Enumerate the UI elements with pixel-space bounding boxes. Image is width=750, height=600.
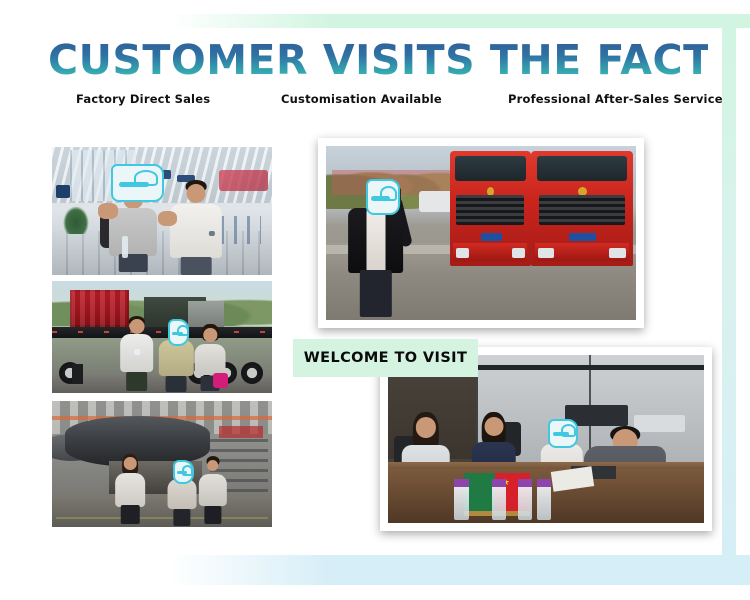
legs (126, 372, 148, 391)
airport-arrival-image (52, 147, 272, 275)
water-bottle (454, 486, 468, 520)
head (207, 460, 219, 472)
airport-arrival-photo (52, 147, 272, 275)
welcome-to-visit-badge: WELCOME TO VISIT (293, 339, 478, 377)
subtitle-customisation-available: Customisation Available (281, 92, 508, 106)
yard-post (72, 364, 83, 384)
torso (120, 334, 154, 372)
water-bottle (122, 236, 128, 258)
subtitle-factory-direct-sales: Factory Direct Sales (76, 92, 281, 106)
thumbs-up-emoji-icon (366, 179, 400, 215)
person-visitor-centre (166, 460, 197, 526)
shirt-logo (209, 231, 215, 236)
head (187, 184, 206, 203)
person-staff-left (118, 312, 155, 390)
promo-page: CUSTOMER VISITS THE FACTORY Factory Dire… (0, 0, 750, 600)
meeting-room-image: LUYI (388, 355, 704, 523)
person-visitor-left (114, 451, 147, 524)
red-trucks-photo: LUYI (318, 138, 644, 328)
grille (539, 195, 625, 225)
airport-scene (52, 147, 272, 275)
thumbs-up-emoji-icon (168, 319, 189, 345)
torso (115, 473, 145, 507)
thumbs-up-hand (158, 211, 178, 226)
thumbs-up-emoji-icon (548, 419, 579, 448)
legs (181, 257, 212, 275)
legs (121, 505, 139, 524)
legs (359, 270, 391, 317)
workshop-banner (219, 426, 263, 437)
person-staff-right (193, 321, 228, 390)
legs (166, 376, 187, 392)
headlamp (456, 248, 469, 258)
truck-street-scene (326, 146, 636, 320)
licence-plate (481, 233, 502, 241)
person-staff-right (197, 454, 228, 525)
trailer-delivery-photo (52, 281, 272, 393)
page-title: CUSTOMER VISITS THE FACTORY (48, 40, 708, 81)
headlamp (609, 248, 625, 258)
water-bottle (492, 486, 506, 520)
meeting-room-scene (388, 355, 704, 523)
red-trucks-image: LUYI (326, 146, 636, 320)
torso (170, 204, 222, 258)
thumbs-up-emoji-icon (111, 164, 163, 203)
headlamp (538, 248, 554, 258)
head (129, 319, 144, 334)
terminal-plant (63, 206, 89, 234)
head (124, 457, 137, 470)
subtitle-after-sales-service: Professional After-Sales Service (508, 92, 728, 106)
person-staff-right (166, 175, 225, 275)
welcome-badge-label: WELCOME TO VISIT (304, 350, 468, 366)
legs (204, 506, 221, 524)
terminal-sign (56, 185, 69, 198)
licence-plate (569, 233, 596, 241)
water-bottle (537, 486, 551, 520)
glass-frame (476, 365, 704, 370)
red-truck-rear (450, 151, 531, 266)
headlamp (512, 248, 525, 258)
thumbs-up-emoji-icon (173, 460, 194, 484)
trailer-yard-scene (52, 281, 272, 393)
red-truck-front (531, 151, 633, 266)
terminal-banner (219, 170, 267, 190)
thumbs-up-hand (98, 203, 118, 218)
handbag (213, 373, 228, 388)
header: CUSTOMER VISITS THE FACTORY Factory Dire… (48, 40, 708, 81)
id-badge (135, 349, 140, 355)
legs (173, 509, 190, 526)
head (484, 417, 503, 436)
workshop-tanker-image (52, 401, 272, 527)
workshop-scene (52, 401, 272, 527)
person-visitor-centre (158, 318, 195, 392)
workshop-tanker-photo (52, 401, 272, 527)
grille (456, 195, 524, 225)
person-customer (348, 170, 404, 316)
shirt (366, 211, 385, 269)
windshield (537, 156, 627, 181)
torso (198, 474, 226, 506)
torso (195, 344, 226, 376)
frame-band-top (0, 14, 750, 28)
workshop-floor (52, 494, 272, 527)
trailer-delivery-image (52, 281, 272, 393)
windshield (455, 156, 526, 181)
frame-band-bottom (0, 555, 750, 585)
subtitle-row: Factory Direct Sales Customisation Avail… (76, 92, 736, 106)
water-bottle (518, 486, 532, 520)
